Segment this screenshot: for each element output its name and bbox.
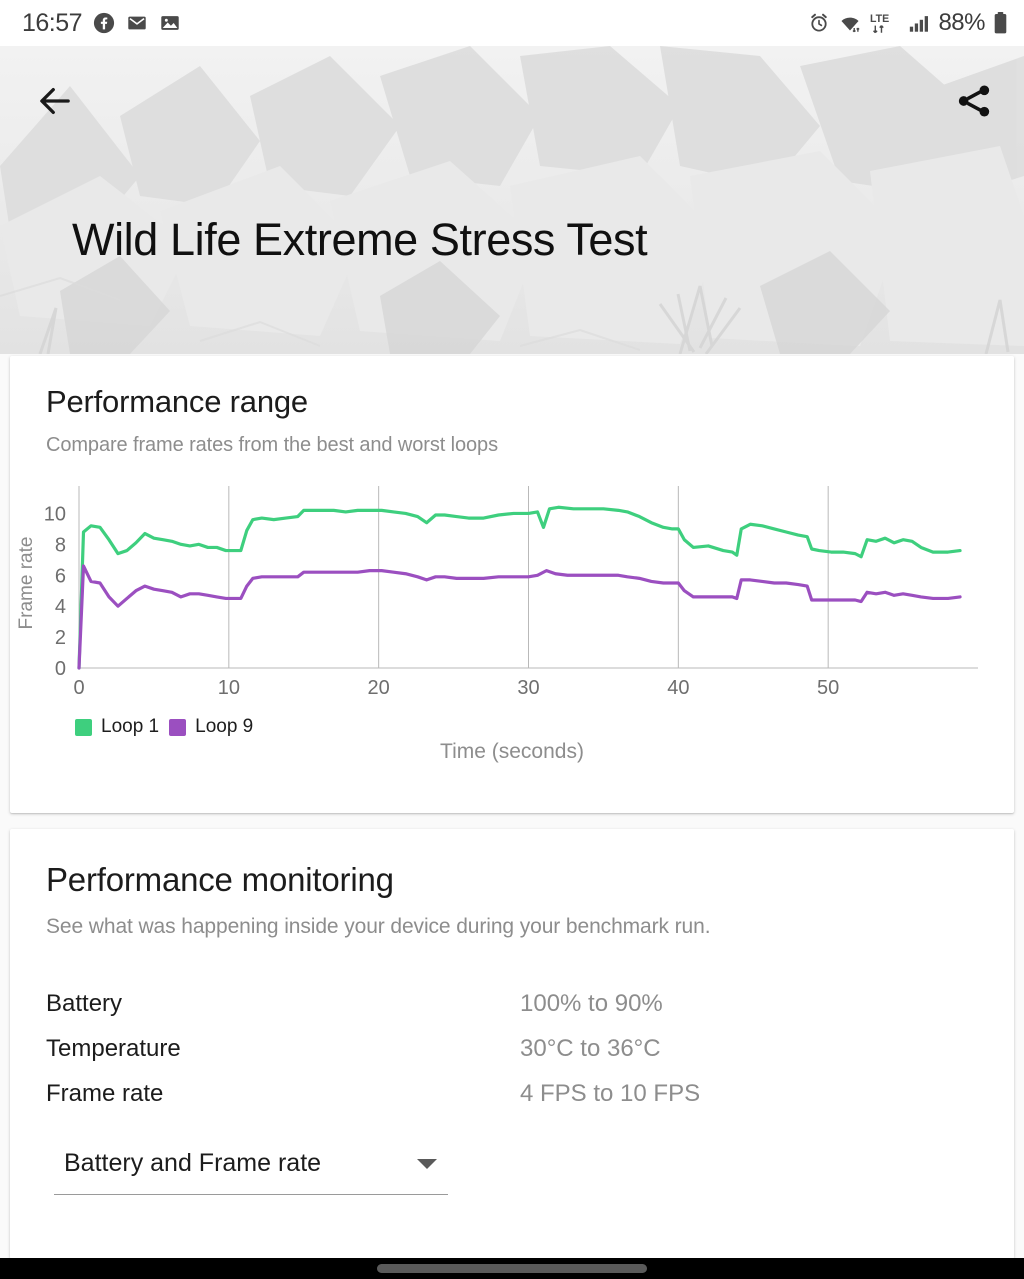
svg-text:0: 0 xyxy=(73,677,84,699)
svg-text:8: 8 xyxy=(55,534,66,556)
mail-icon xyxy=(126,12,148,34)
chart-x-axis-label: Time (seconds) xyxy=(10,740,1014,764)
facebook-icon xyxy=(93,12,115,34)
svg-text:20: 20 xyxy=(368,677,390,699)
frame-rate-chart: 024681001020304050Frame rate Loop 1 Loop… xyxy=(10,478,1014,813)
table-row: Battery 100% to 90% xyxy=(46,981,976,1026)
table-row: Temperature 30°C to 36°C xyxy=(46,1026,976,1071)
legend-item-loop1[interactable]: Loop 1 xyxy=(75,716,159,738)
svg-text:50: 50 xyxy=(817,677,839,699)
chart-legend: Loop 1 Loop 9 xyxy=(75,716,253,738)
svg-text:40: 40 xyxy=(667,677,689,699)
frame-rate-chart-svg: 024681001020304050Frame rate xyxy=(10,478,1014,713)
chevron-down-icon[interactable] xyxy=(416,1157,438,1171)
performance-range-header: Performance range Compare frame rates fr… xyxy=(10,356,1014,457)
stat-value-battery: 100% to 90% xyxy=(520,990,663,1018)
svg-text:6: 6 xyxy=(55,565,66,587)
performance-monitoring-title: Performance monitoring xyxy=(46,861,978,899)
page-title: Wild Life Extreme Stress Test xyxy=(72,214,647,266)
svg-text:10: 10 xyxy=(44,503,66,525)
monitoring-stats-list: Battery 100% to 90% Temperature 30°C to … xyxy=(46,981,976,1116)
metric-select-dropdown[interactable]: Battery and Frame rate xyxy=(54,1149,448,1195)
performance-monitoring-subtitle: See what was happening inside your devic… xyxy=(46,915,978,939)
status-bar: 16:57 xyxy=(0,0,1024,46)
performance-range-card: Performance range Compare frame rates fr… xyxy=(10,356,1014,813)
status-bar-right: LTE 88% xyxy=(808,9,1008,37)
stat-label-frame-rate: Frame rate xyxy=(46,1080,520,1108)
legend-label-loop9: Loop 9 xyxy=(195,716,253,738)
status-bar-clock: 16:57 xyxy=(22,9,82,38)
system-navigation-bar xyxy=(0,1258,1024,1279)
alarm-icon xyxy=(808,12,830,34)
legend-label-loop1: Loop 1 xyxy=(101,716,159,738)
photo-icon xyxy=(159,12,181,34)
metric-select-value: Battery and Frame rate xyxy=(64,1149,321,1178)
svg-text:2: 2 xyxy=(55,627,66,649)
lte-icon: LTE xyxy=(870,11,900,35)
table-row: Frame rate 4 FPS to 10 FPS xyxy=(46,1071,976,1116)
battery-percent-label: 88% xyxy=(938,9,985,37)
battery-icon xyxy=(993,11,1008,35)
performance-monitoring-card: Performance monitoring See what was happ… xyxy=(10,829,1014,1259)
status-bar-left: 16:57 xyxy=(22,9,181,38)
performance-monitoring-header: Performance monitoring See what was happ… xyxy=(10,829,1014,939)
svg-text:4: 4 xyxy=(55,596,66,618)
svg-text:10: 10 xyxy=(218,677,240,699)
hero-header: Wild Life Extreme Stress Test xyxy=(0,46,1024,354)
stat-label-battery: Battery xyxy=(46,990,520,1018)
app-screen: 16:57 xyxy=(0,0,1024,1279)
svg-text:Frame rate: Frame rate xyxy=(16,537,37,630)
signal-bars-icon xyxy=(908,12,930,34)
legend-item-loop9[interactable]: Loop 9 xyxy=(169,716,253,738)
gesture-pill[interactable] xyxy=(377,1264,647,1273)
svg-text:30: 30 xyxy=(517,677,539,699)
back-arrow-icon[interactable] xyxy=(34,80,76,122)
stat-value-temperature: 30°C to 36°C xyxy=(520,1035,661,1063)
wifi-icon xyxy=(838,12,862,34)
share-icon[interactable] xyxy=(954,81,994,121)
stat-label-temperature: Temperature xyxy=(46,1035,520,1063)
performance-range-subtitle: Compare frame rates from the best and wo… xyxy=(46,434,978,457)
legend-swatch-loop1 xyxy=(75,719,92,736)
svg-text:LTE: LTE xyxy=(870,13,889,25)
svg-text:0: 0 xyxy=(55,658,66,680)
stat-value-frame-rate: 4 FPS to 10 FPS xyxy=(520,1080,700,1108)
performance-range-title: Performance range xyxy=(46,384,978,420)
hero-toolbar xyxy=(0,46,1024,156)
legend-swatch-loop9 xyxy=(169,719,186,736)
